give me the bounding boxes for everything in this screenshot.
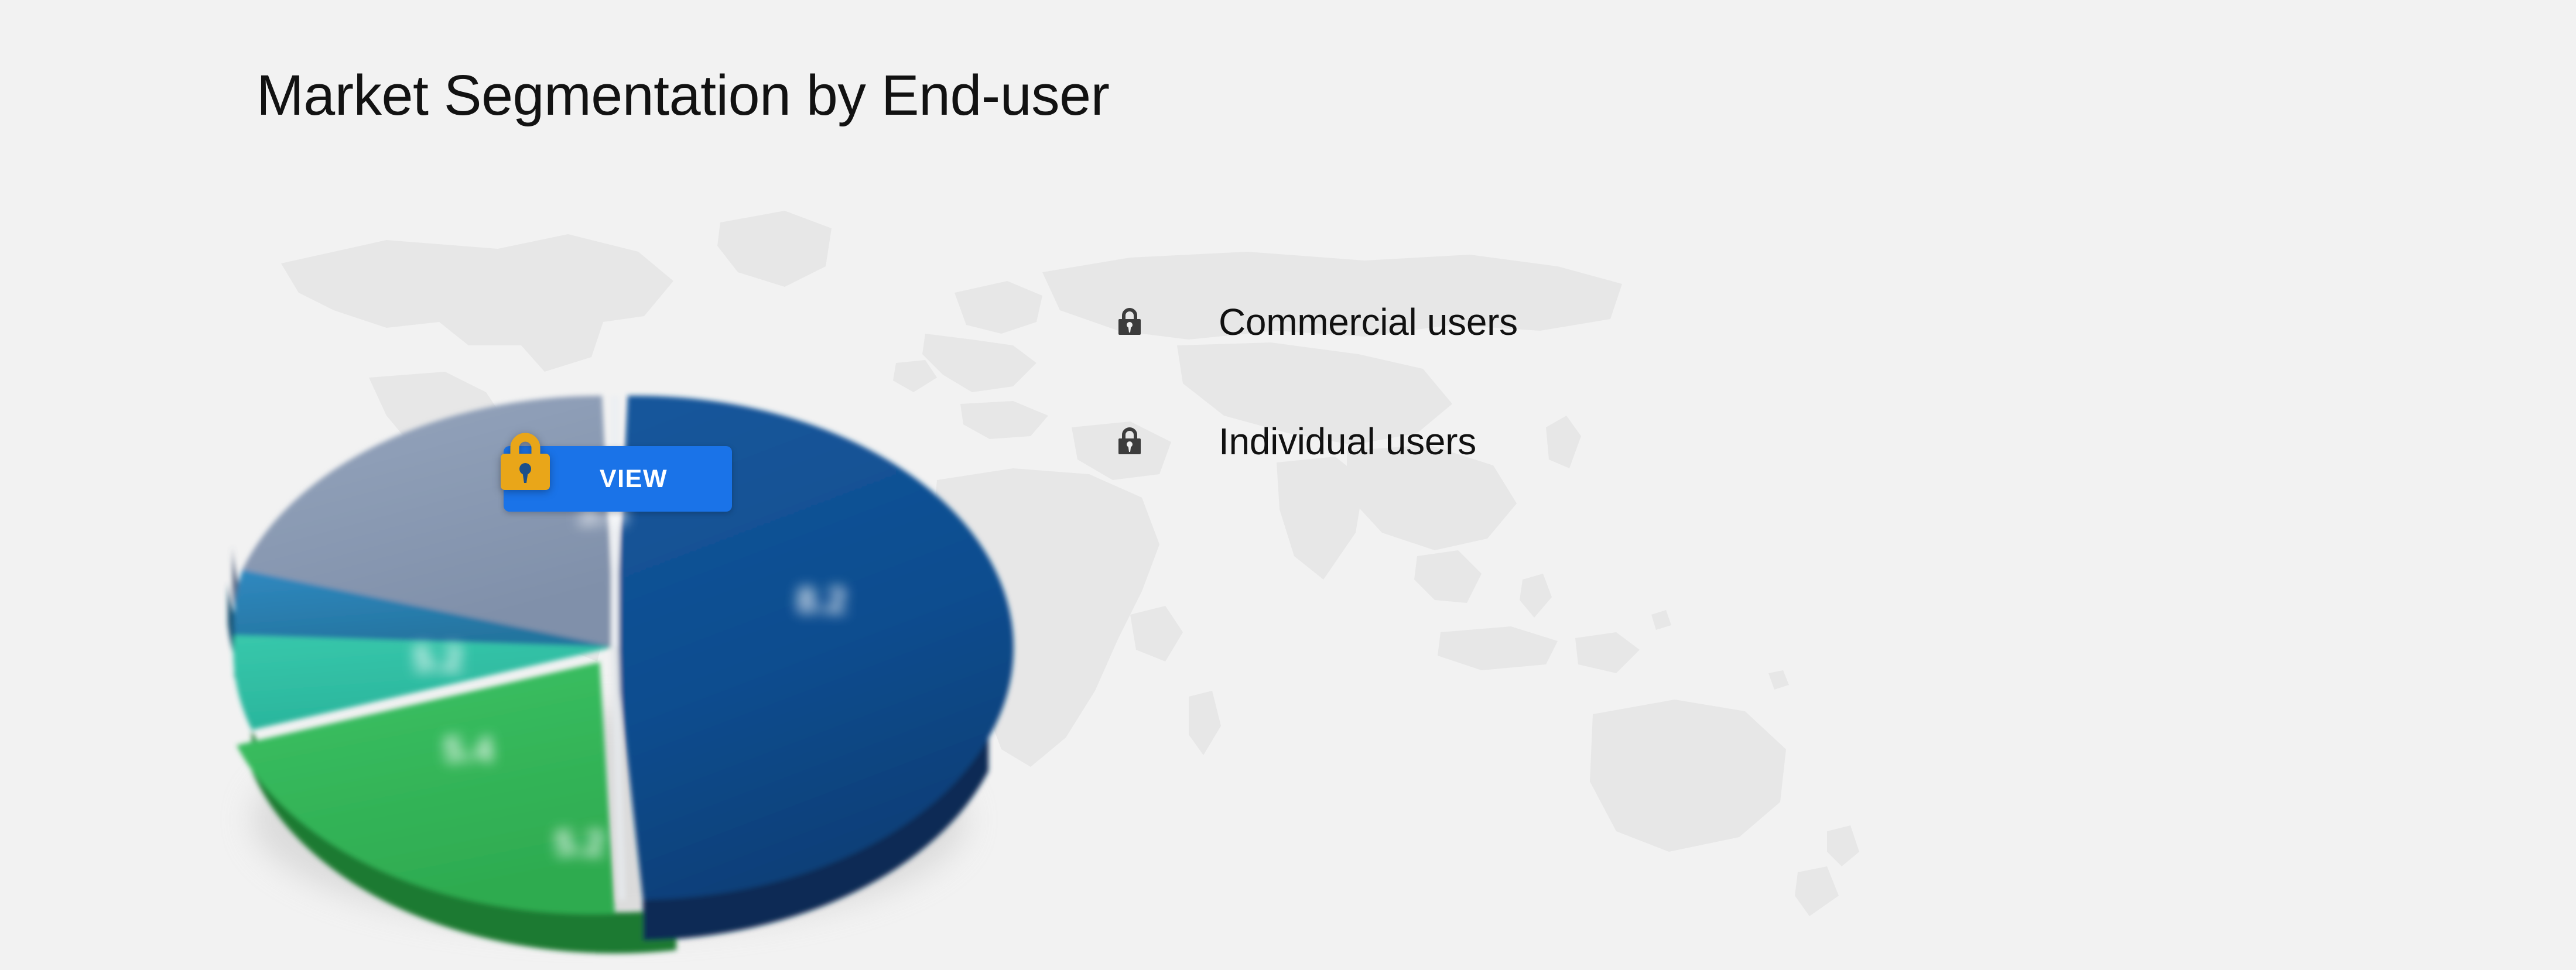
lock-icon: [1116, 307, 1144, 337]
slice-label-3: 5.2: [413, 639, 463, 679]
page-title: Market Segmentation by End-user: [256, 64, 1109, 127]
legend-item-commercial-users[interactable]: Commercial users: [1116, 287, 1935, 357]
pie-chart: 8.2 3.4 5.2 5.4 5.2: [146, 167, 1060, 963]
slice-label-1: 8.2: [796, 580, 847, 621]
legend-item-individual-users[interactable]: Individual users: [1116, 406, 1935, 477]
lock-icon: [1116, 426, 1144, 457]
legend-item-label: Individual users: [1219, 420, 1476, 463]
chart-legend: Commercial users Individual users: [1116, 287, 1935, 526]
lock-icon: [495, 430, 556, 493]
slice-label-5: 5.2: [555, 823, 605, 863]
legend-item-label: Commercial users: [1219, 300, 1518, 344]
slice-label-4: 5.4: [443, 729, 494, 770]
view-overlay: VIEW: [495, 430, 741, 565]
